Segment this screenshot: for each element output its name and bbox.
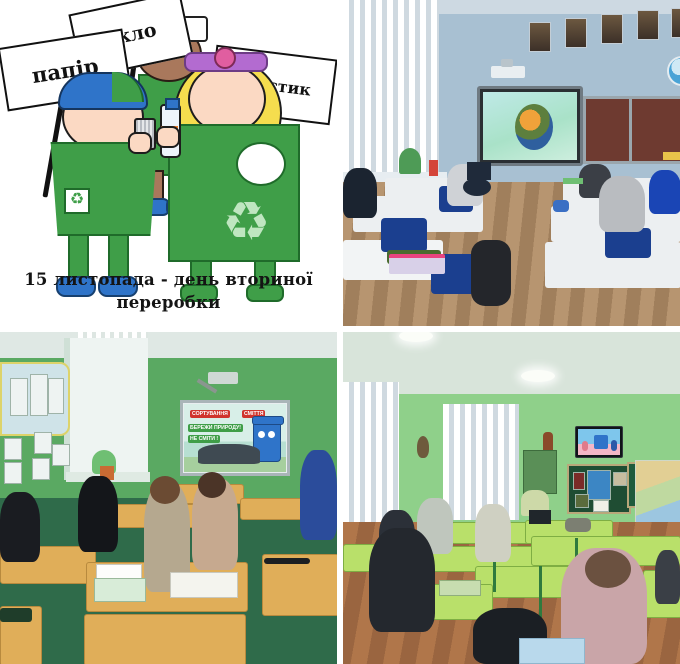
chair bbox=[605, 228, 651, 258]
poster-caption: 15 листопада - день вториної переробки bbox=[0, 268, 337, 314]
wall-portrait bbox=[529, 22, 551, 52]
interactive-whiteboard: СОРТУВАННЯ СМІТТЯ БЕРЕЖИ ПРИРОДУ! НЕ СМІ… bbox=[180, 400, 290, 476]
window bbox=[443, 404, 519, 520]
wall-portrait bbox=[637, 10, 659, 40]
hand bbox=[156, 126, 180, 148]
student-head bbox=[585, 550, 631, 588]
chair bbox=[381, 218, 427, 252]
window-blinds bbox=[343, 382, 399, 524]
window bbox=[343, 0, 439, 176]
student-head bbox=[463, 178, 491, 196]
backpack bbox=[471, 240, 511, 306]
wall-card bbox=[4, 462, 22, 484]
ceiling-lamp bbox=[521, 370, 555, 382]
student bbox=[599, 176, 645, 232]
poster bbox=[575, 494, 589, 508]
poster bbox=[593, 500, 609, 512]
board-line-2: БЕРЕЖИ ПРИРОДУ! bbox=[188, 424, 243, 432]
marker-tray bbox=[264, 558, 310, 564]
whiteboard-screen: СОРТУВАННЯ СМІТТЯ БЕРЕЖИ ПРИРОДУ! НЕ СМІ… bbox=[184, 404, 286, 472]
student bbox=[343, 168, 377, 218]
wall-card bbox=[4, 438, 22, 460]
photo-bottom-right bbox=[343, 332, 680, 664]
wall-decoration bbox=[417, 436, 429, 458]
ceiling-projector bbox=[208, 372, 238, 384]
bag bbox=[565, 518, 591, 532]
textbook bbox=[170, 572, 238, 598]
wall-portrait bbox=[565, 18, 587, 48]
recycling-bin-girl: ♻ bbox=[168, 124, 300, 262]
wall-portrait bbox=[601, 14, 623, 44]
desk-ornament bbox=[429, 160, 438, 176]
desk bbox=[240, 498, 308, 520]
recycle-symbol-icon: ♻ bbox=[222, 196, 270, 248]
wall-tv bbox=[575, 426, 623, 458]
ceiling-projector bbox=[491, 66, 525, 78]
textbook bbox=[439, 580, 481, 596]
student-head bbox=[198, 472, 226, 498]
desk bbox=[84, 614, 246, 664]
cartoon-child bbox=[582, 441, 588, 451]
board-title-1: СОРТУВАННЯ bbox=[190, 410, 230, 418]
cartoon-child bbox=[611, 440, 617, 451]
potted-plant bbox=[399, 148, 421, 174]
photo-collage: ♻ скло папір пластик bbox=[0, 0, 680, 664]
laptop bbox=[467, 162, 491, 180]
poster-caption-line2: переробки bbox=[8, 291, 329, 314]
poster bbox=[587, 470, 611, 500]
tv-screen bbox=[578, 429, 620, 455]
window bbox=[343, 382, 399, 524]
student bbox=[78, 476, 118, 552]
recycle-symbol-icon: ♻ bbox=[64, 188, 90, 214]
hand bbox=[128, 132, 152, 154]
character-girl: ♻ bbox=[164, 52, 324, 302]
wall-card bbox=[32, 458, 50, 480]
student bbox=[655, 550, 680, 604]
photo-top-right bbox=[343, 0, 680, 326]
pencil-case bbox=[94, 578, 146, 602]
interactive-whiteboard bbox=[477, 86, 583, 166]
wall-shelf bbox=[523, 450, 557, 494]
window-blinds bbox=[343, 0, 439, 176]
window-blinds bbox=[443, 404, 519, 520]
earth-globe-slide bbox=[515, 104, 553, 150]
wall-card bbox=[34, 432, 52, 454]
scattered-trash-illustration bbox=[198, 444, 260, 464]
flower-icon bbox=[214, 47, 236, 69]
whiteboard-screen bbox=[483, 92, 577, 160]
poster bbox=[613, 472, 627, 486]
desk-leg bbox=[539, 566, 542, 620]
recycling-day-illustration: ♻ скло папір пластик bbox=[0, 0, 337, 326]
photo-bottom-left: СОРТУВАННЯ СМІТТЯ БЕРЕЖИ ПРИРОДУ! НЕ СМІ… bbox=[0, 332, 337, 664]
poster bbox=[573, 472, 585, 490]
book bbox=[389, 254, 445, 274]
poster-cell: ♻ скло папір пластик bbox=[0, 0, 337, 326]
bulletin-board bbox=[567, 464, 631, 514]
pencil-case bbox=[553, 200, 569, 212]
wall-info-board bbox=[0, 362, 70, 436]
laptop bbox=[529, 510, 551, 524]
ceiling bbox=[0, 332, 337, 358]
poster bbox=[48, 378, 64, 414]
student bbox=[0, 492, 40, 562]
wall-map bbox=[635, 460, 680, 524]
wall-portrait bbox=[671, 8, 680, 38]
poster-caption-line1: 15 листопада - день вториної bbox=[8, 268, 329, 291]
student-head bbox=[150, 476, 180, 504]
poster bbox=[10, 378, 28, 416]
cap-icon bbox=[58, 72, 148, 110]
pencil-case bbox=[0, 608, 32, 622]
cartoon-recycling-bin bbox=[594, 435, 608, 449]
student bbox=[649, 170, 680, 214]
wall-card bbox=[52, 444, 70, 466]
student bbox=[300, 450, 337, 540]
board-line-3: НЕ СМІТИ ! bbox=[188, 435, 220, 443]
wall-label bbox=[663, 152, 680, 160]
student bbox=[369, 528, 435, 632]
student bbox=[475, 504, 511, 562]
textbook bbox=[519, 638, 585, 664]
poster bbox=[30, 374, 48, 416]
notebook bbox=[563, 178, 583, 184]
